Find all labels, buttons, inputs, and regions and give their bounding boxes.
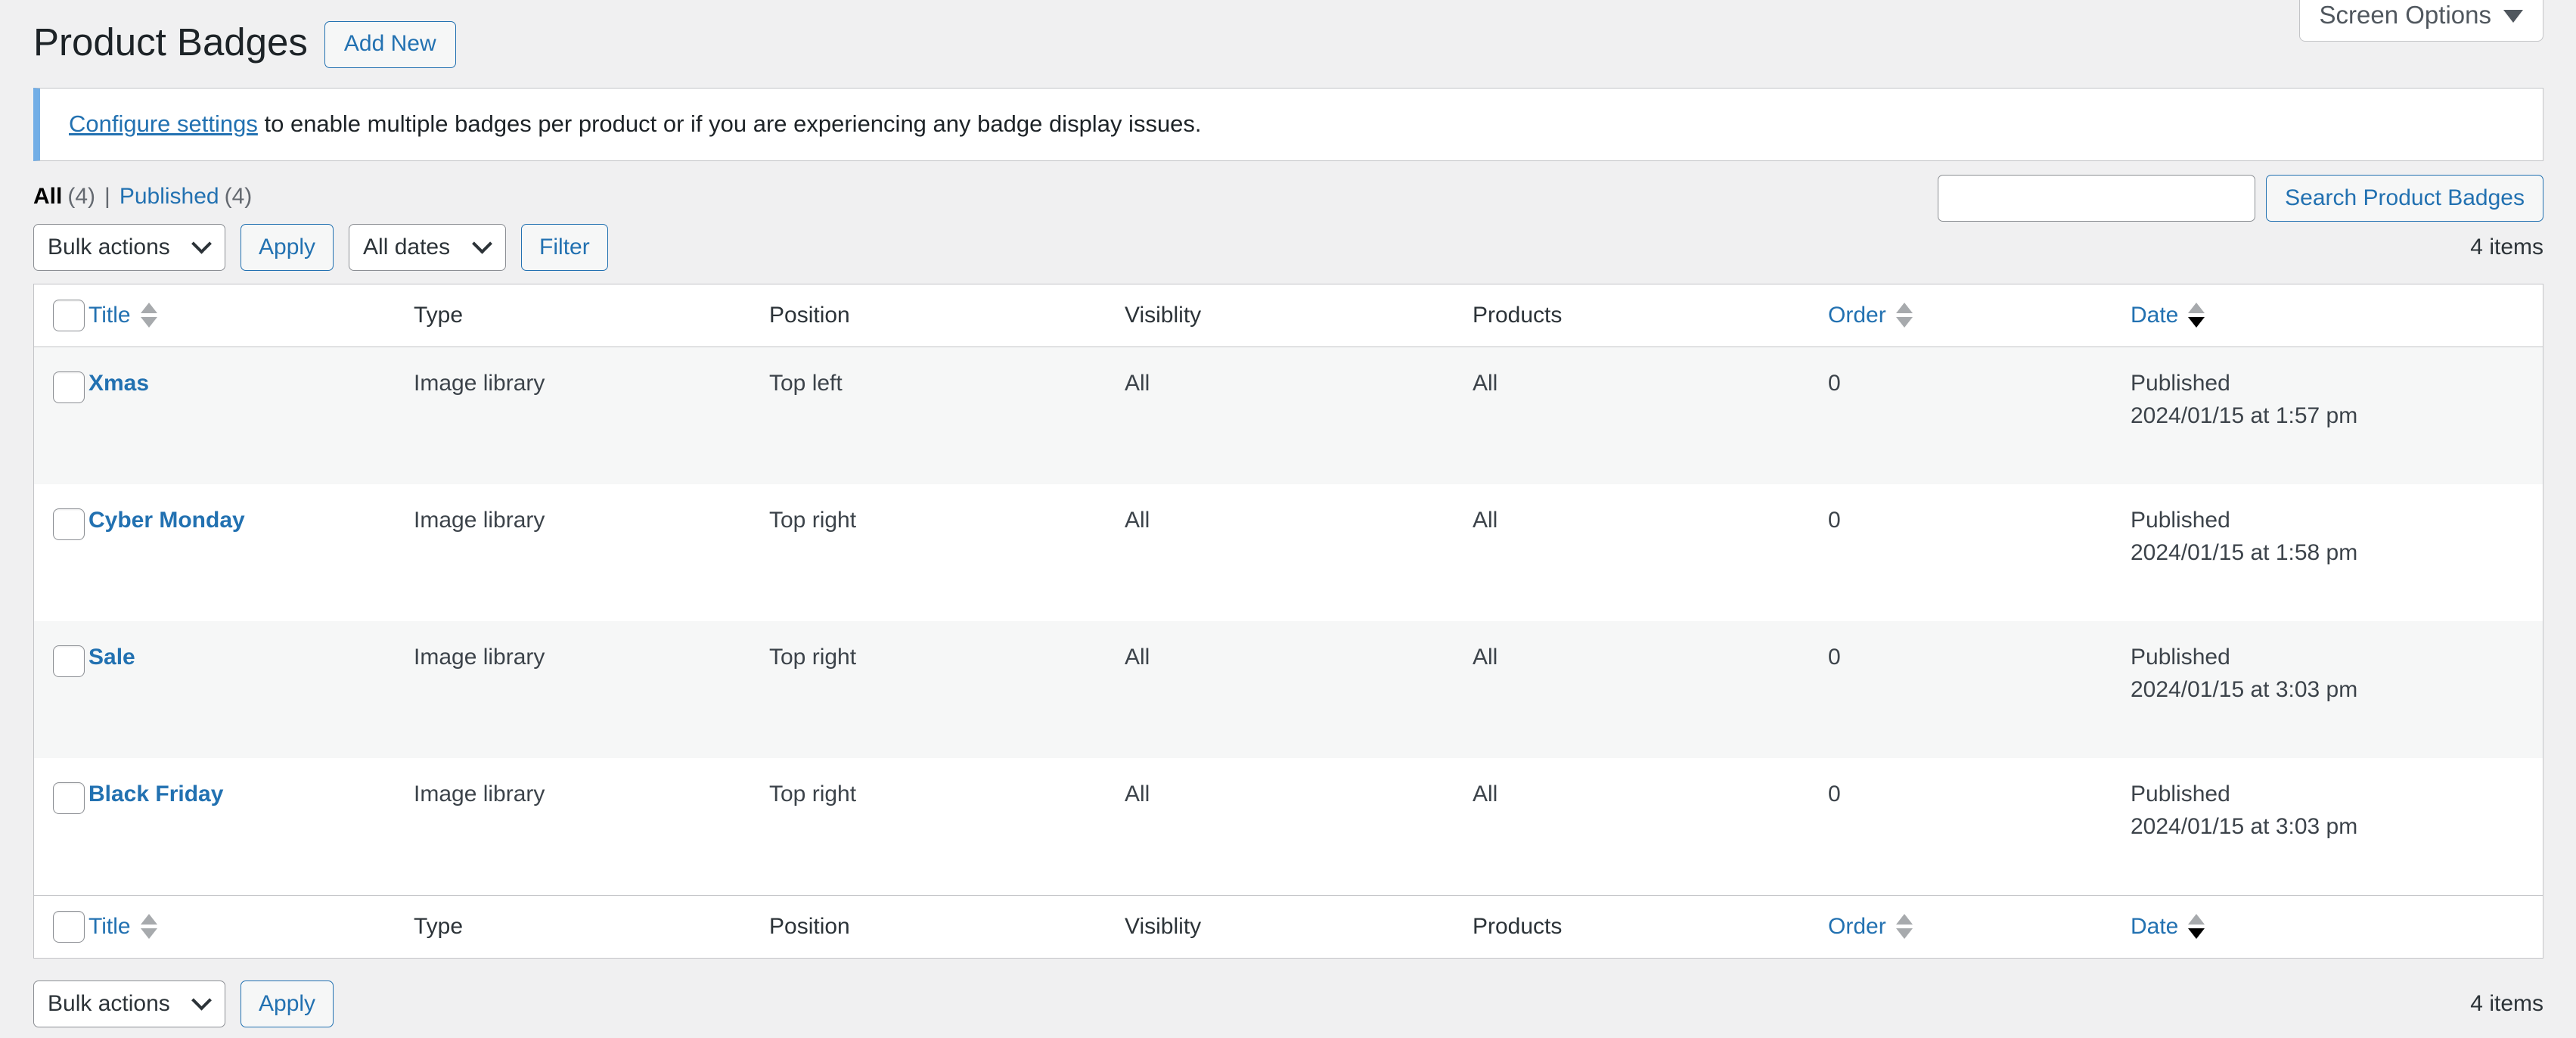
row-date-status: Published	[2131, 641, 2543, 674]
column-header-date-top: Date	[2131, 284, 2543, 347]
apply-button-top[interactable]: Apply	[241, 224, 334, 271]
sort-arrows-title-bottom	[141, 914, 157, 939]
column-header-visiblity-bottom: Visiblity	[1125, 895, 1473, 958]
configure-settings-notice: Configure settings to enable multiple ba…	[33, 88, 2543, 161]
configure-settings-link[interactable]: Configure settings	[69, 110, 258, 137]
column-header-visiblity-top: Visiblity	[1125, 284, 1473, 347]
table-footer-row: Title Type Position Visiblity Products O…	[34, 895, 2543, 958]
row-visiblity-cell: All	[1125, 347, 1473, 484]
row-type-cell: Image library	[414, 347, 769, 484]
screen-meta-links: Screen Options	[2299, 0, 2543, 42]
sort-arrows-date-bottom	[2188, 914, 2205, 939]
row-date-status: Published	[2131, 778, 2543, 811]
row-title-cell: Xmas	[88, 347, 414, 484]
column-header-title-top: Title	[88, 284, 414, 347]
select-all-checkbox-top[interactable]	[53, 300, 85, 331]
column-label-date-bottom: Date	[2131, 914, 2178, 940]
column-header-position-top: Position	[769, 284, 1125, 347]
sort-descending-icon-active	[2188, 317, 2205, 328]
row-order-cell: 0	[1828, 621, 2131, 758]
row-order-cell: 0	[1828, 484, 2131, 621]
page-title: Product Badges	[33, 18, 308, 67]
sort-arrows-title-top	[141, 303, 157, 328]
sort-ascending-icon	[2188, 303, 2205, 313]
sort-descending-icon-active	[2188, 928, 2205, 939]
table-row: Sale Image library Top right All All 0 P…	[34, 621, 2543, 758]
row-date-value: 2024/01/15 at 1:58 pm	[2131, 536, 2543, 570]
status-filter-all-count: (4)	[67, 184, 95, 210]
row-position-cell: Top right	[769, 621, 1125, 758]
row-select-checkbox[interactable]	[53, 371, 85, 403]
status-filter-published-count: (4)	[225, 184, 253, 210]
status-filter-all[interactable]: All (4)	[33, 184, 95, 210]
column-header-type-bottom: Type	[414, 895, 769, 958]
column-label-title-bottom: Title	[88, 914, 131, 940]
sort-descending-icon	[1896, 928, 1913, 939]
bulk-actions-select-top[interactable]: Bulk actions	[33, 224, 225, 271]
sort-title-link-top[interactable]: Title	[88, 303, 157, 328]
row-select-checkbox[interactable]	[53, 645, 85, 677]
sort-order-link-bottom[interactable]: Order	[1828, 914, 1913, 940]
sort-arrows-date-top	[2188, 303, 2205, 328]
row-visiblity-cell: All	[1125, 484, 1473, 621]
product-badges-table: Title Type Position Visiblity Products O…	[33, 284, 2543, 959]
row-date-cell: Published 2024/01/15 at 3:03 pm	[2131, 621, 2543, 758]
table-row: Cyber Monday Image library Top right All…	[34, 484, 2543, 621]
displaying-num-top: 4 items	[2470, 235, 2543, 260]
row-order-cell: 0	[1828, 758, 2131, 895]
row-visiblity-cell: All	[1125, 621, 1473, 758]
status-filter-separator: |	[95, 184, 119, 210]
table-row: Black Friday Image library Top right All…	[34, 758, 2543, 895]
table-head: Title Type Position Visiblity Products O…	[34, 284, 2543, 347]
row-products-cell: All	[1473, 347, 1828, 484]
row-title-cell: Cyber Monday	[88, 484, 414, 621]
bulk-actions-select-wrap-bottom: Bulk actions	[33, 981, 225, 1027]
search-input[interactable]	[1938, 175, 2255, 222]
column-header-products-top: Products	[1473, 284, 1828, 347]
column-header-position-bottom: Position	[769, 895, 1125, 958]
column-label-order-bottom: Order	[1828, 914, 1886, 940]
row-title-link[interactable]: Sale	[88, 645, 135, 670]
row-title-cell: Black Friday	[88, 758, 414, 895]
apply-button-bottom[interactable]: Apply	[241, 981, 334, 1027]
select-all-checkbox-bottom[interactable]	[53, 911, 85, 943]
select-all-header-top	[34, 284, 88, 347]
status-filter-all-link[interactable]: All	[33, 184, 62, 210]
row-products-cell: All	[1473, 621, 1828, 758]
table-body: Xmas Image library Top left All All 0 Pu…	[34, 347, 2543, 895]
sort-date-link-bottom[interactable]: Date	[2131, 914, 2205, 940]
sort-arrows-order-top	[1896, 303, 1913, 328]
row-checkbox-cell	[34, 621, 88, 758]
row-date-cell: Published 2024/01/15 at 1:58 pm	[2131, 484, 2543, 621]
column-label-date-top: Date	[2131, 303, 2178, 328]
row-title-link[interactable]: Xmas	[88, 371, 149, 396]
row-date-value: 2024/01/15 at 1:57 pm	[2131, 399, 2543, 433]
list-filters-bar: All (4) | Published (4) Search Product B…	[33, 161, 2543, 210]
sort-order-link-top[interactable]: Order	[1828, 303, 1913, 328]
row-date-value: 2024/01/15 at 3:03 pm	[2131, 673, 2543, 707]
sort-title-link-bottom[interactable]: Title	[88, 914, 157, 940]
row-select-checkbox[interactable]	[53, 508, 85, 540]
sort-ascending-icon	[1896, 303, 1913, 313]
table-foot: Title Type Position Visiblity Products O…	[34, 895, 2543, 958]
bulk-actions-select-bottom[interactable]: Bulk actions	[33, 981, 225, 1027]
row-checkbox-cell	[34, 347, 88, 484]
filter-button[interactable]: Filter	[521, 224, 608, 271]
dates-select-wrap: All dates	[349, 224, 506, 271]
row-title-cell: Sale	[88, 621, 414, 758]
sort-descending-icon	[1896, 317, 1913, 328]
sort-ascending-icon	[2188, 914, 2205, 925]
sort-descending-icon	[141, 928, 157, 939]
status-filter-published-link[interactable]: Published	[119, 184, 219, 210]
select-all-header-bottom	[34, 895, 88, 958]
sort-ascending-icon	[1896, 914, 1913, 925]
row-products-cell: All	[1473, 758, 1828, 895]
row-checkbox-cell	[34, 484, 88, 621]
admin-page: Screen Options Product Badges Add New Co…	[0, 0, 2576, 1038]
column-label-order-top: Order	[1828, 303, 1886, 328]
row-checkbox-cell	[34, 758, 88, 895]
row-date-status: Published	[2131, 367, 2543, 400]
row-title-link[interactable]: Black Friday	[88, 782, 223, 806]
row-title-link[interactable]: Cyber Monday	[88, 508, 245, 533]
column-header-order-top: Order	[1828, 284, 2131, 347]
status-filter-published[interactable]: Published (4)	[119, 184, 252, 210]
dates-filter-select[interactable]: All dates	[349, 224, 506, 271]
tablenav-bottom: Bulk actions Apply 4 items	[33, 977, 2543, 1031]
table-header-row: Title Type Position Visiblity Products O…	[34, 284, 2543, 347]
tablenav-top: Bulk actions Apply All dates Filter 4 it…	[33, 220, 2543, 275]
screen-options-button[interactable]: Screen Options	[2299, 0, 2543, 42]
row-date-cell: Published 2024/01/15 at 3:03 pm	[2131, 758, 2543, 895]
search-box: Search Product Badges	[1938, 175, 2543, 222]
bulk-actions-select-wrap-top: Bulk actions	[33, 224, 225, 271]
row-position-cell: Top right	[769, 758, 1125, 895]
search-submit-button[interactable]: Search Product Badges	[2266, 175, 2543, 222]
separator-glyph: |	[104, 184, 110, 210]
notice-text: to enable multiple badges per product or…	[258, 110, 1202, 137]
column-header-order-bottom: Order	[1828, 895, 2131, 958]
sort-arrows-order-bottom	[1896, 914, 1913, 939]
row-type-cell: Image library	[414, 758, 769, 895]
column-header-type-top: Type	[414, 284, 769, 347]
row-date-cell: Published 2024/01/15 at 1:57 pm	[2131, 347, 2543, 484]
column-header-title-bottom: Title	[88, 895, 414, 958]
row-products-cell: All	[1473, 484, 1828, 621]
sort-date-link-top[interactable]: Date	[2131, 303, 2205, 328]
add-new-button[interactable]: Add New	[324, 21, 456, 68]
row-type-cell: Image library	[414, 484, 769, 621]
column-label-title-top: Title	[88, 303, 131, 328]
row-select-checkbox[interactable]	[53, 782, 85, 814]
row-visiblity-cell: All	[1125, 758, 1473, 895]
sort-ascending-icon	[141, 914, 157, 925]
row-type-cell: Image library	[414, 621, 769, 758]
table-row: Xmas Image library Top left All All 0 Pu…	[34, 347, 2543, 484]
screen-options-label: Screen Options	[2320, 0, 2491, 30]
row-date-status: Published	[2131, 504, 2543, 537]
page-header: Product Badges Add New	[0, 0, 2576, 68]
row-position-cell: Top left	[769, 347, 1125, 484]
sort-descending-icon	[141, 317, 157, 328]
chevron-down-icon	[2503, 10, 2523, 23]
row-position-cell: Top right	[769, 484, 1125, 621]
row-date-value: 2024/01/15 at 3:03 pm	[2131, 810, 2543, 844]
displaying-num-bottom: 4 items	[2470, 991, 2543, 1017]
sort-ascending-icon	[141, 303, 157, 313]
column-header-products-bottom: Products	[1473, 895, 1828, 958]
row-order-cell: 0	[1828, 347, 2131, 484]
column-header-date-bottom: Date	[2131, 895, 2543, 958]
